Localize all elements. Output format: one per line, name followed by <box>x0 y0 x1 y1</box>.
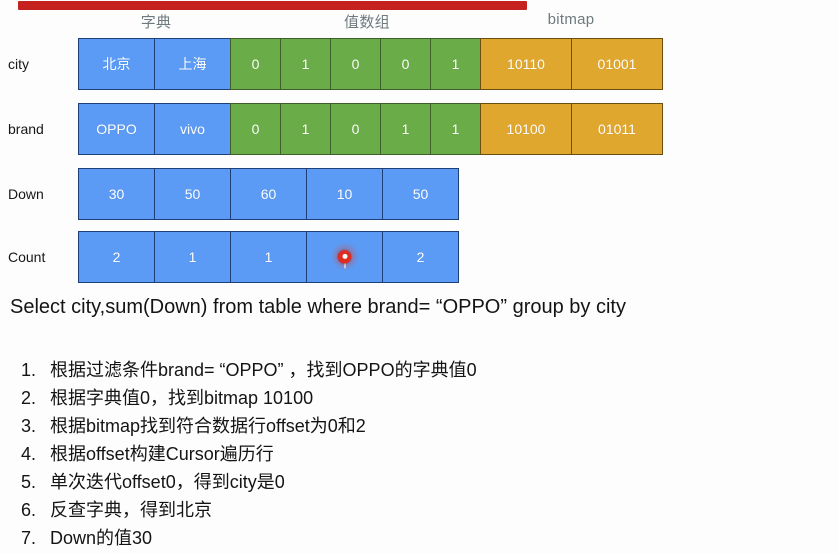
step-number: 5. <box>10 472 50 493</box>
cell-brand-dict-1[interactable]: vivo <box>154 103 231 155</box>
cell-brand-dict-0[interactable]: OPPO <box>78 103 155 155</box>
row-cells-count: 2 1 1 1 2 <box>78 231 459 283</box>
step-item: 2. 根据字典值0，找到bitmap 10100 <box>10 384 810 412</box>
step-item: 6. 反查字典，得到北京 <box>10 496 810 524</box>
cell-brand-value-0[interactable]: 0 <box>230 103 281 155</box>
cell-city-value-2[interactable]: 0 <box>330 38 381 90</box>
cell-down-3[interactable]: 10 <box>306 168 383 220</box>
cell-brand-value-4[interactable]: 1 <box>430 103 481 155</box>
step-text: 根据过滤条件brand= “OPPO” ，找到OPPO的字典值0 <box>50 356 477 382</box>
cell-count-0[interactable]: 2 <box>78 231 155 283</box>
step-text: 根据offset构建Cursor遍历行 <box>50 440 274 466</box>
cell-brand-value-1[interactable]: 1 <box>280 103 331 155</box>
step-number: 4. <box>10 444 50 465</box>
cell-down-4[interactable]: 50 <box>382 168 459 220</box>
cell-down-0[interactable]: 30 <box>78 168 155 220</box>
cell-city-value-0[interactable]: 0 <box>230 38 281 90</box>
cell-brand-value-2[interactable]: 0 <box>330 103 381 155</box>
cell-brand-bitmap-0[interactable]: 10100 <box>480 103 572 155</box>
row-label-count: Count <box>8 231 72 283</box>
column-group-headers: 字典 值数组 bitmap <box>0 11 838 37</box>
row-label-city: city <box>8 38 72 90</box>
step-item: 3. 根据bitmap找到符合数据行offset为0和2 <box>10 412 810 440</box>
cell-city-bitmap-1[interactable]: 01001 <box>571 38 663 90</box>
step-text: 根据字典值0，找到bitmap 10100 <box>50 384 313 410</box>
column-header-bitmap: bitmap <box>548 11 595 28</box>
sql-query-text: Select city,sum(Down) from table where b… <box>10 296 626 319</box>
step-item: 4. 根据offset构建Cursor遍历行 <box>10 440 810 468</box>
step-item: 1. 根据过滤条件brand= “OPPO” ，找到OPPO的字典值0 <box>10 356 810 384</box>
cell-city-dict-1[interactable]: 上海 <box>154 38 231 90</box>
cell-down-2[interactable]: 60 <box>230 168 307 220</box>
step-item: 5. 单次迭代offset0，得到city是0 <box>10 468 810 496</box>
cell-brand-bitmap-1[interactable]: 01011 <box>571 103 663 155</box>
cell-count-4[interactable]: 2 <box>382 231 459 283</box>
step-number: 7. <box>10 528 50 549</box>
cell-count-2[interactable]: 1 <box>230 231 307 283</box>
steps-list: 1. 根据过滤条件brand= “OPPO” ，找到OPPO的字典值0 2. 根… <box>10 356 810 552</box>
row-cells-down: 30 50 60 10 50 <box>78 168 459 220</box>
step-text: 根据bitmap找到符合数据行offset为0和2 <box>50 412 366 438</box>
cell-city-value-4[interactable]: 1 <box>430 38 481 90</box>
row-cells-brand: OPPO vivo 0 1 0 1 1 10100 01011 <box>78 103 663 155</box>
cell-city-value-3[interactable]: 0 <box>380 38 431 90</box>
cell-city-bitmap-0[interactable]: 10110 <box>480 38 572 90</box>
row-label-down: Down <box>8 168 72 220</box>
cell-count-3[interactable]: 1 <box>306 231 383 283</box>
step-number: 6. <box>10 500 50 521</box>
cell-brand-value-3[interactable]: 1 <box>380 103 431 155</box>
column-header-value-array: 值数组 <box>344 11 390 32</box>
row-cells-city: 北京 上海 0 1 0 0 1 10110 01001 <box>78 38 663 90</box>
cell-count-1[interactable]: 1 <box>154 231 231 283</box>
cell-city-value-1[interactable]: 1 <box>280 38 331 90</box>
column-header-dictionary: 字典 <box>141 11 172 32</box>
step-item: 7. Down的值30 <box>10 524 810 552</box>
step-text: Down的值30 <box>50 524 152 550</box>
step-text: 单次迭代offset0，得到city是0 <box>50 468 285 494</box>
step-number: 2. <box>10 388 50 409</box>
top-red-bar <box>18 1 527 10</box>
step-number: 1. <box>10 360 50 381</box>
cell-city-dict-0[interactable]: 北京 <box>78 38 155 90</box>
row-label-brand: brand <box>8 103 72 155</box>
cell-count-3-value: 1 <box>341 249 349 265</box>
cell-down-1[interactable]: 50 <box>154 168 231 220</box>
step-text: 反查字典，得到北京 <box>50 496 212 522</box>
step-number: 3. <box>10 416 50 437</box>
